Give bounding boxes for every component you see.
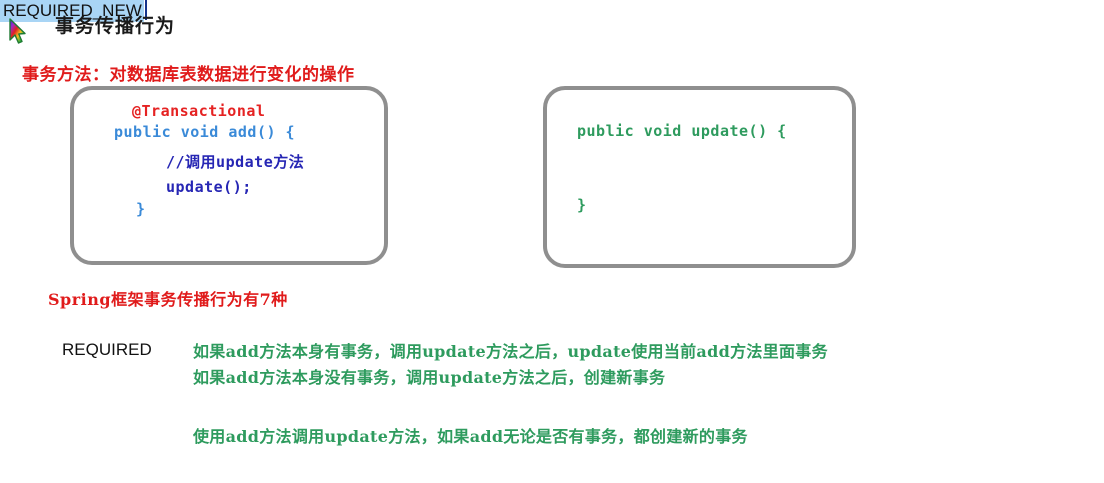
page-title: 事务传播行为 <box>55 11 175 38</box>
code-line-add-signature: public void add() { <box>114 123 295 141</box>
rainbow-arrow-pointer-icon <box>8 18 30 46</box>
code-box-update-method: public void update() { } <box>543 86 856 268</box>
propagation-desc-required-new-line-1: 使用add方法调用update方法，如果add无论是否有事务，都创建新的事务 <box>193 423 748 447</box>
code-line-add-closing-brace: } <box>136 200 146 218</box>
code-line-call-update-comment: //调用update方法 <box>166 151 304 172</box>
code-box-add-method: @Transactional public void add() { //调用u… <box>70 86 388 265</box>
code-line-update-closing-brace: } <box>577 196 587 214</box>
propagation-label-required[interactable]: REQUIRED <box>62 340 152 360</box>
propagation-desc-required-line-1: 如果add方法本身有事务，调用update方法之后，update使用当前add方… <box>193 338 828 362</box>
slide-canvas: 事务传播行为 事务方法：对数据库表数据进行变化的操作 @Transactiona… <box>0 0 1104 483</box>
code-line-update-call: update(); <box>166 178 252 196</box>
code-line-transactional-annotation: @Transactional <box>132 102 265 120</box>
propagation-desc-required-line-2: 如果add方法本身没有事务，调用update方法之后，创建新事务 <box>193 364 665 388</box>
subtitle-transaction-method: 事务方法：对数据库表数据进行变化的操作 <box>22 60 355 85</box>
code-line-update-signature: public void update() { <box>577 122 787 140</box>
spring-propagation-note: Spring框架事务传播行为有7种 <box>48 286 288 310</box>
